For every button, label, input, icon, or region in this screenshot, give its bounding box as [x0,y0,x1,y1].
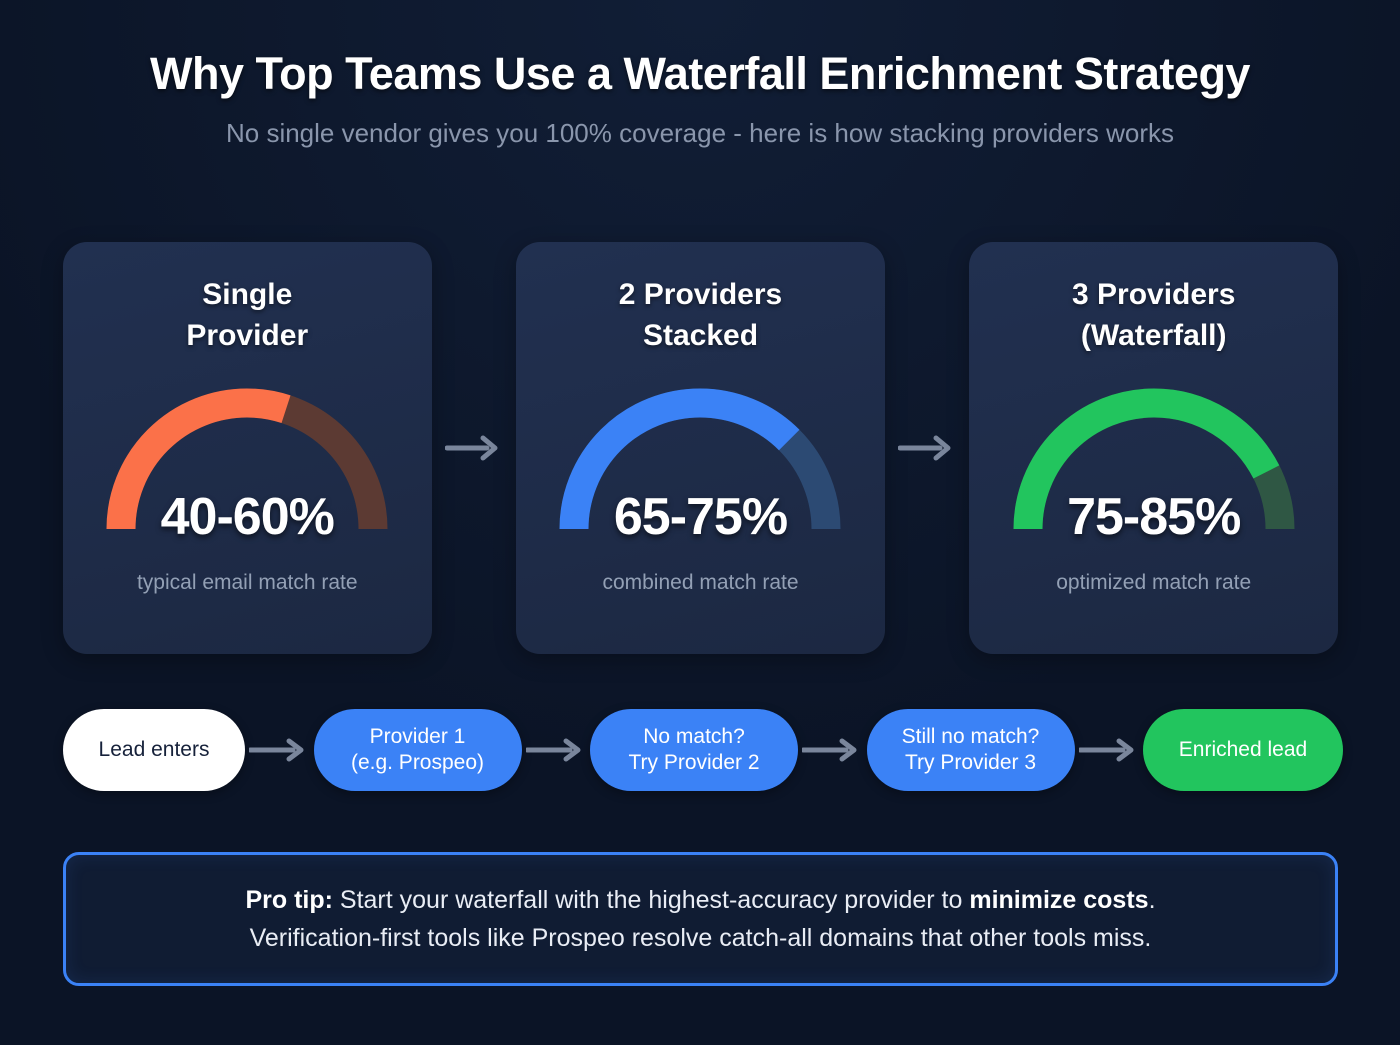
gauge-card-two-providers: 2 Providers Stacked 65-75% combined matc… [516,242,885,654]
pro-tip-line1-rest: Start your waterfall with the highest-ac… [333,886,969,914]
pro-tip-emphasis: minimize costs [969,886,1148,914]
pro-tip-line2: Verification-first tools like Prospeo re… [250,924,1152,952]
arrow-right-icon [1079,737,1139,763]
card-caption: optimized match rate [1056,571,1251,595]
infographic-root: Why Top Teams Use a Waterfall Enrichment… [0,0,1400,1045]
card-title: Single Provider [186,274,308,357]
gauge-value: 65-75% [554,487,846,547]
flow-node-provider-1[interactable]: Provider 1 (e.g. Prospeo) [314,709,522,791]
card-arrow-2 [885,242,970,654]
arrow-right-icon [526,737,586,763]
gauge-chart: 40-60% [101,381,393,543]
card-title: 2 Providers Stacked [619,274,782,357]
pro-tip-lead: Pro tip: [245,886,333,914]
flow-node-enriched-lead[interactable]: Enriched lead [1143,709,1343,791]
card-caption: combined match rate [602,571,798,595]
gauge-card-three-providers: 3 Providers (Waterfall) 75-85% optimized… [969,242,1338,654]
page-subtitle: No single vendor gives you 100% coverage… [0,118,1400,149]
flow-arrow-3 [798,737,867,763]
pro-tip-line1-tail: . [1149,886,1156,914]
page-title: Why Top Teams Use a Waterfall Enrichment… [0,48,1400,100]
gauge-chart: 65-75% [554,381,846,543]
header: Why Top Teams Use a Waterfall Enrichment… [0,0,1400,149]
arrow-right-icon [249,737,309,763]
flow-arrow-4 [1075,737,1144,763]
flow-node-provider-3[interactable]: Still no match? Try Provider 3 [867,709,1075,791]
gauge-value: 40-60% [101,487,393,547]
gauge-card-single-provider: Single Provider 40-60% typical email mat… [63,242,432,654]
gauge-value: 75-85% [1008,487,1300,547]
arrow-right-icon [445,433,503,463]
flow-arrow-2 [522,737,591,763]
card-title: 3 Providers (Waterfall) [1072,274,1235,357]
flow-node-provider-2[interactable]: No match? Try Provider 2 [590,709,798,791]
pro-tip-text: Pro tip: Start your waterfall with the h… [245,881,1155,957]
pro-tip-callout: Pro tip: Start your waterfall with the h… [63,852,1338,986]
card-caption: typical email match rate [137,571,358,595]
gauge-card-row: Single Provider 40-60% typical email mat… [63,242,1338,654]
flow-node-lead-enters[interactable]: Lead enters [63,709,245,791]
waterfall-flow: Lead enters Provider 1 (e.g. Prospeo) No… [63,706,1343,794]
card-arrow-1 [432,242,517,654]
arrow-right-icon [898,433,956,463]
gauge-chart: 75-85% [1008,381,1300,543]
arrow-right-icon [802,737,862,763]
flow-arrow-1 [245,737,314,763]
